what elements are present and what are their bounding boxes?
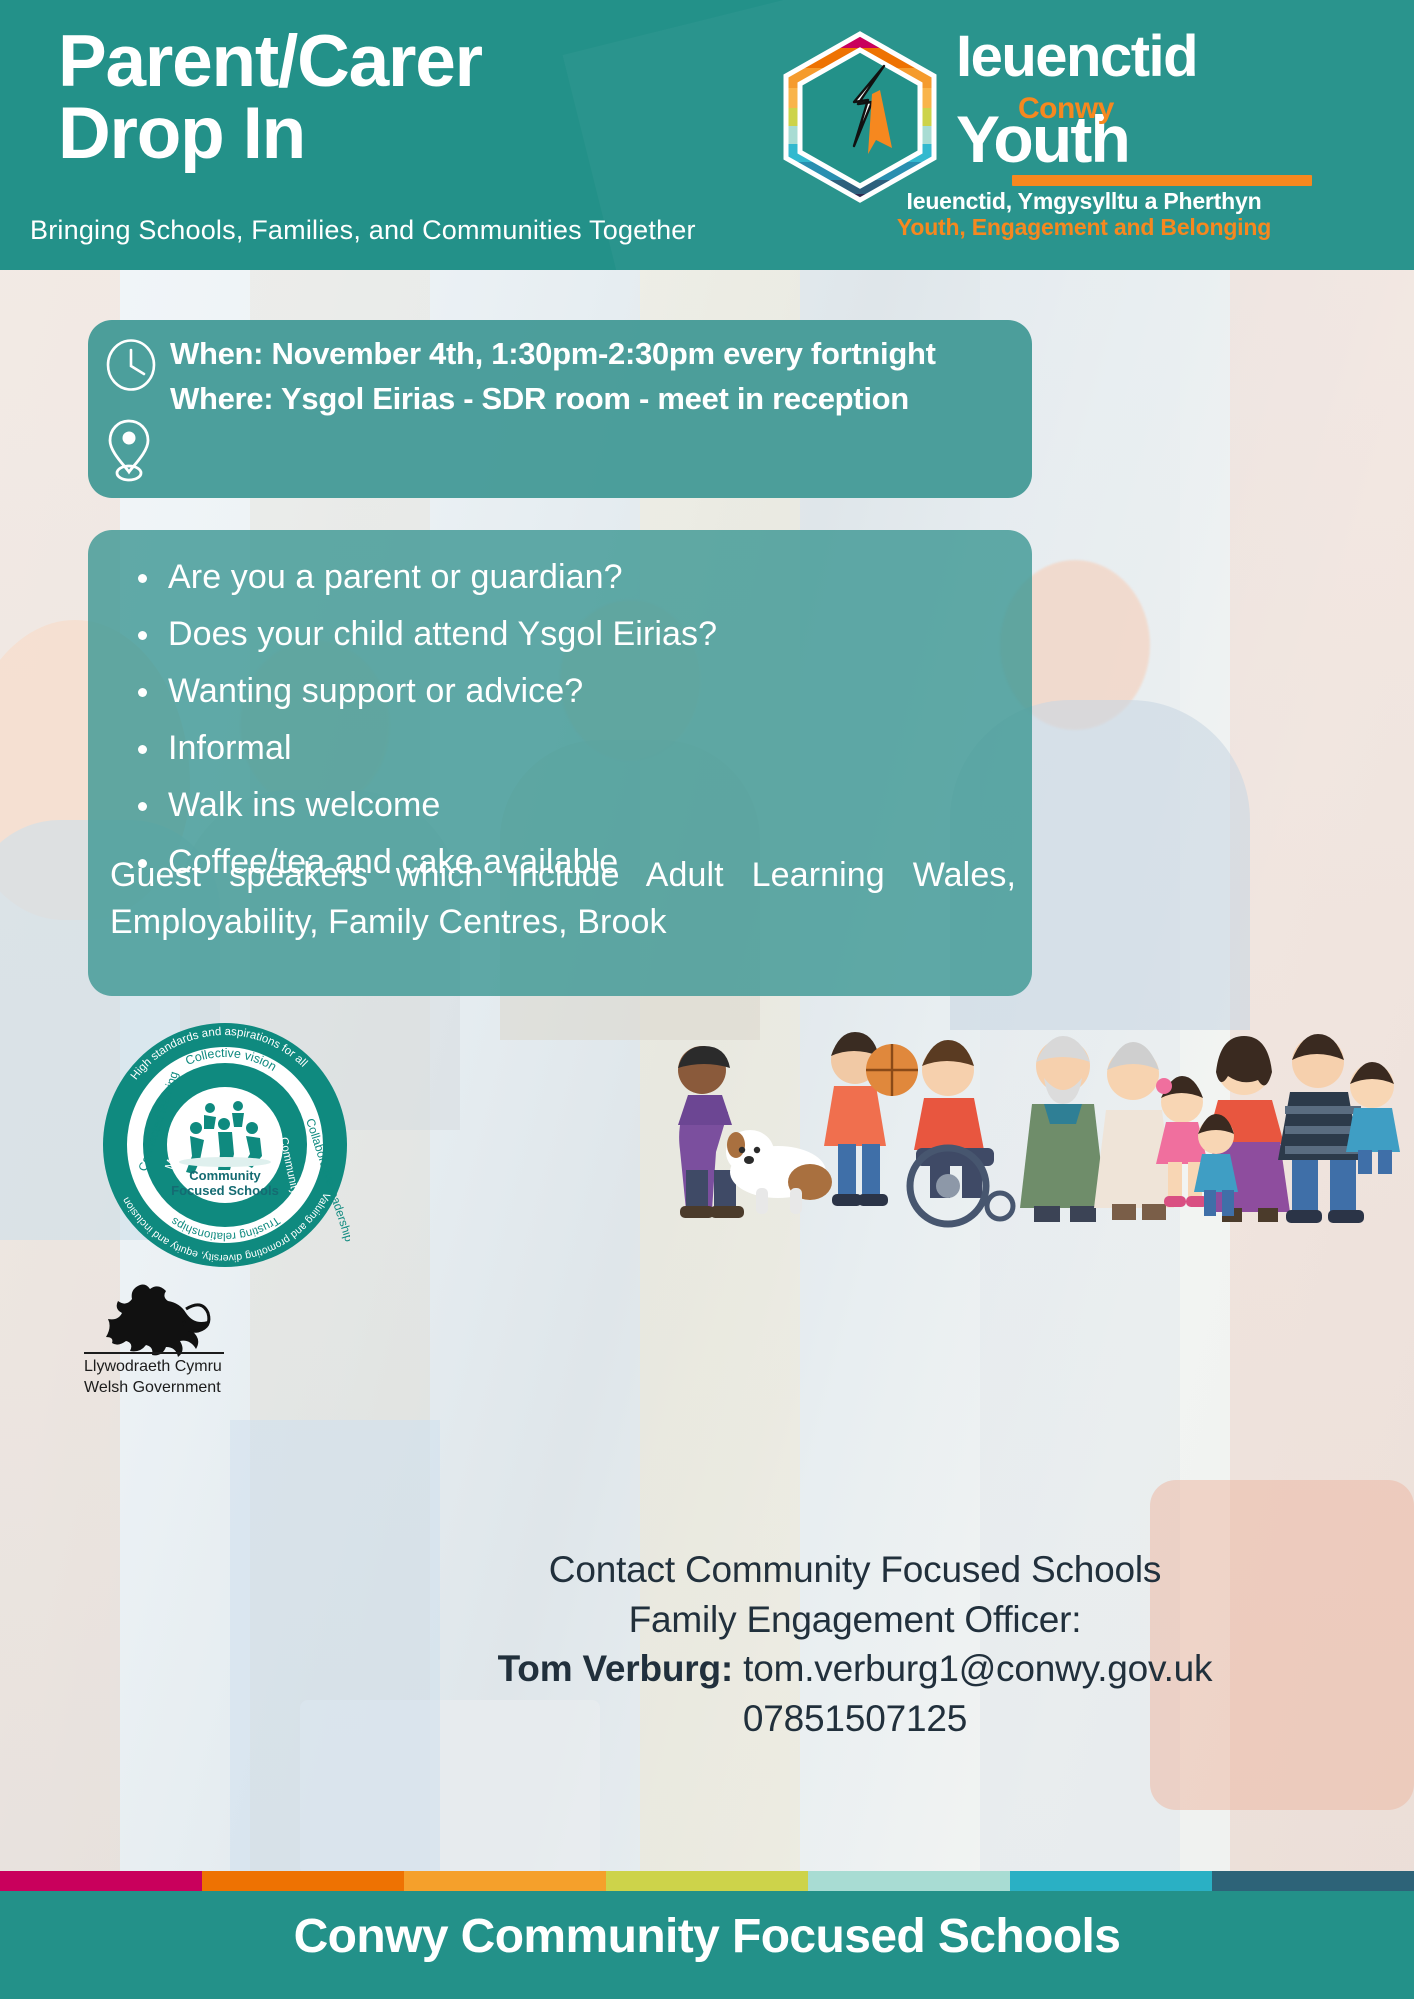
- welsh-gov-label-english: Welsh Government: [84, 1379, 221, 1397]
- wheel-centre-line2: Focused Schools: [171, 1183, 279, 1198]
- location-pin-icon: [105, 418, 153, 482]
- logo-word-ieuenctid: Ieuenctid: [956, 28, 1197, 86]
- when-where-text: When: November 4th, 1:30pm-2:30pm every …: [170, 334, 1015, 418]
- list-item: Informal: [110, 731, 970, 765]
- colour-swatch-strip: [0, 1871, 1414, 1891]
- conwy-youth-logo: Ieuenctid Youth Conwy Ieuenctid, Ymgysyl…: [772, 22, 1396, 252]
- bullet-list: Are you a parent or guardian? Does your …: [110, 560, 970, 902]
- contact-name: Tom Verburg:: [498, 1648, 733, 1689]
- swatch-5: [808, 1871, 1010, 1891]
- page-title: Parent/Carer Drop In: [58, 26, 482, 169]
- contact-line-1: Contact Community Focused Schools: [300, 1545, 1410, 1595]
- list-item: Walk ins welcome: [110, 788, 970, 822]
- footer-text: Conwy Community Focused Schools: [0, 1909, 1414, 1964]
- title-line-2: Drop In: [58, 98, 482, 170]
- contact-block: Contact Community Focused Schools Family…: [300, 1545, 1410, 1743]
- community-focused-schools-wheel-logo: High standards and aspirations for all V…: [100, 1020, 350, 1270]
- title-line-1: Parent/Carer: [58, 26, 482, 98]
- clock-icon: [105, 339, 157, 391]
- contact-email[interactable]: tom.verburg1@conwy.gov.uk: [743, 1648, 1212, 1689]
- hexagon-arrow-icon: [772, 28, 948, 204]
- contact-line-2: Family Engagement Officer:: [300, 1595, 1410, 1645]
- list-item: Are you a parent or guardian?: [110, 560, 970, 594]
- swatch-1: [0, 1871, 202, 1891]
- wheel-centre-line1: Community: [189, 1168, 261, 1183]
- logo-tagline-welsh: Ieuenctid, Ymgysylltu a Pherthyn: [772, 188, 1396, 215]
- where-line: Where: Ysgol Eirias - SDR room - meet in…: [170, 379, 1015, 418]
- swatch-6: [1010, 1871, 1212, 1891]
- poster-footer: Conwy Community Focused Schools: [0, 1871, 1414, 1999]
- swatch-2: [202, 1871, 404, 1891]
- logo-underline: [1012, 175, 1312, 186]
- header-subtitle: Bringing Schools, Families, and Communit…: [30, 215, 696, 246]
- poster-root: Parent/Carer Drop In Bringing Schools, F…: [0, 0, 1414, 1999]
- family-illustration: [630, 920, 1400, 1230]
- contact-phone: 07851507125: [300, 1694, 1410, 1744]
- swatch-7: [1212, 1871, 1414, 1891]
- welsh-gov-divider: [84, 1352, 224, 1354]
- welsh-gov-label-welsh: Llywodraeth Cymru: [84, 1358, 222, 1376]
- list-item: Does your child attend Ysgol Eirias?: [110, 617, 970, 651]
- contact-line-3: Tom Verburg: tom.verburg1@conwy.gov.uk: [300, 1644, 1410, 1694]
- logo-word-conwy: Conwy: [1018, 92, 1114, 126]
- poster-header: Parent/Carer Drop In Bringing Schools, F…: [0, 0, 1414, 270]
- when-line: When: November 4th, 1:30pm-2:30pm every …: [170, 334, 1015, 373]
- swatch-4: [606, 1871, 808, 1891]
- logo-tagline-english: Youth, Engagement and Belonging: [772, 214, 1396, 241]
- list-item: Wanting support or advice?: [110, 674, 970, 708]
- swatch-3: [404, 1871, 606, 1891]
